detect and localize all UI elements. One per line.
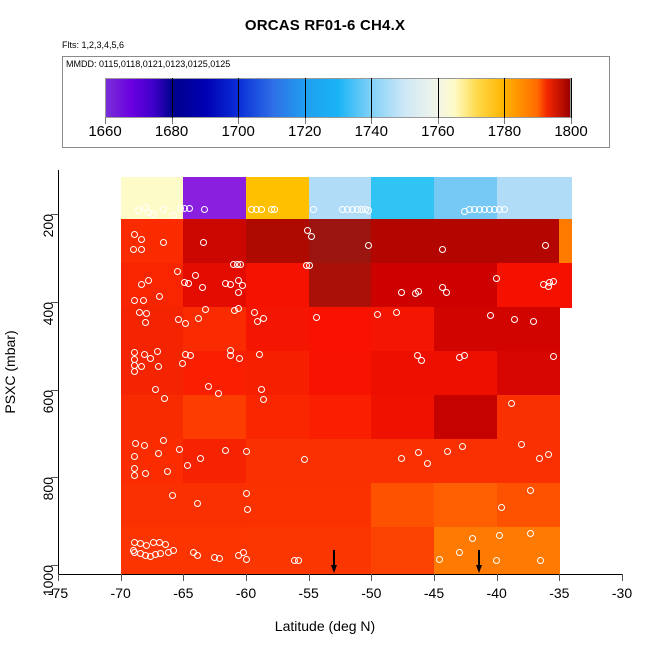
x-axis-tick <box>183 574 184 581</box>
data-point <box>170 547 177 554</box>
heatmap-cell <box>371 177 434 220</box>
data-point <box>310 206 317 213</box>
heatmap-cell <box>309 351 372 396</box>
heatmap-cell <box>121 483 184 528</box>
y-axis-tick-label: 1000 <box>40 565 56 596</box>
colorbar-separator <box>571 78 572 118</box>
data-point <box>160 206 167 213</box>
data-point <box>132 440 139 447</box>
data-point <box>205 383 212 390</box>
data-point <box>185 280 192 287</box>
x-axis-tick <box>622 574 623 581</box>
heatmap-cell <box>121 439 184 484</box>
x-axis-tick-label: -70 <box>111 585 131 601</box>
data-point <box>398 289 405 296</box>
x-axis-tick <box>434 574 435 581</box>
heatmap-cell <box>309 177 372 220</box>
heatmap-cell <box>246 263 309 308</box>
x-axis-tick-label: -60 <box>236 585 256 601</box>
heatmap-cell <box>246 483 372 528</box>
x-axis-tick <box>371 574 372 581</box>
page-title: ORCAS RF01-6 CH4.X <box>0 17 650 34</box>
data-point <box>550 353 557 360</box>
heatmap-plot-area <box>58 170 622 574</box>
data-point <box>243 448 250 455</box>
heatmap-cell <box>246 439 372 484</box>
colorbar-tick-label: 1700 <box>221 123 254 140</box>
data-point <box>194 500 201 507</box>
data-point <box>498 504 505 511</box>
data-point <box>530 318 537 325</box>
mmdd-label: MMDD: 0115,0118,0121,0123,0125,0125 <box>66 59 230 69</box>
data-point <box>536 455 543 462</box>
heatmap-cell <box>434 219 497 264</box>
data-point <box>244 506 251 513</box>
data-point <box>418 357 425 364</box>
data-point <box>251 309 258 316</box>
data-point <box>184 462 191 469</box>
data-point <box>145 277 152 284</box>
heatmap-cell <box>183 219 246 264</box>
data-point <box>216 555 223 562</box>
x-axis-tick-label: -30 <box>612 585 632 601</box>
heatmap-cell <box>183 307 246 352</box>
y-axis-title: PSXC (mbar) <box>2 330 18 413</box>
data-point <box>135 207 142 214</box>
x-axis-tick-label: -65 <box>173 585 193 601</box>
colorbar: 16601680170017201740176017801800 <box>105 78 571 118</box>
heatmap-cell <box>371 527 434 574</box>
data-point <box>239 282 246 289</box>
x-axis-tick <box>559 574 560 581</box>
x-axis-tick-label: -50 <box>361 585 381 601</box>
colorbar-tick-label: 1720 <box>288 123 321 140</box>
heatmap-cell <box>371 351 434 396</box>
heatmap-cell <box>371 395 434 440</box>
heatmap-cells-layer <box>58 170 622 574</box>
heatmap-cell <box>309 263 372 308</box>
y-axis-tick-label: 800 <box>40 477 56 500</box>
heatmap-cell <box>183 483 246 528</box>
arrow-head <box>331 565 337 573</box>
data-point <box>461 352 468 359</box>
data-point <box>308 233 315 240</box>
data-point <box>199 284 206 291</box>
data-point <box>156 293 163 300</box>
data-point <box>235 289 242 296</box>
colorbar-tick-label: 1680 <box>155 123 188 140</box>
profile-marker-arrow <box>476 550 482 574</box>
heatmap-cell <box>309 395 372 440</box>
x-axis-tick <box>497 574 498 581</box>
profile-marker-arrow <box>331 550 337 574</box>
data-point <box>131 465 138 472</box>
x-axis-line <box>58 574 622 575</box>
data-point <box>444 448 451 455</box>
data-point <box>170 212 177 219</box>
heatmap-cell <box>246 219 309 264</box>
data-point <box>374 311 381 318</box>
data-point <box>545 283 552 290</box>
heatmap-cell <box>183 263 246 308</box>
colorbar-separator <box>504 78 505 118</box>
data-point <box>162 541 169 548</box>
colorbar-tick-label: 1800 <box>554 123 587 140</box>
x-axis-tick-label: -45 <box>424 585 444 601</box>
plot-root: ORCAS RF01-6 CH4.X Flts: 1,2,3,4,5,6 MMD… <box>0 0 650 650</box>
heatmap-cell <box>121 307 184 352</box>
data-point <box>194 552 201 559</box>
data-point <box>439 246 446 253</box>
data-point <box>164 468 171 475</box>
x-axis-tick-label: -40 <box>487 585 507 601</box>
data-point <box>130 547 137 554</box>
colorbar-separator <box>172 78 173 118</box>
data-point <box>527 487 534 494</box>
colorbar-separator <box>438 78 439 118</box>
data-point <box>195 315 202 322</box>
colorbar-gradient <box>105 78 571 118</box>
data-point <box>258 386 265 393</box>
data-point <box>542 242 549 249</box>
data-point <box>175 316 182 323</box>
y-axis-tick-label: 600 <box>40 390 56 413</box>
heatmap-cell <box>121 219 184 264</box>
heatmap-cell <box>497 219 560 264</box>
colorbar-tick-label: 1660 <box>88 123 121 140</box>
colorbar-separator <box>371 78 372 118</box>
heatmap-cell <box>497 263 573 308</box>
data-point <box>511 316 518 323</box>
x-axis-tick <box>246 574 247 581</box>
y-axis-line <box>58 170 59 574</box>
heatmap-cell <box>183 439 246 484</box>
data-point <box>243 556 250 563</box>
heatmap-cell <box>434 395 497 440</box>
data-point <box>131 368 138 375</box>
x-axis-tick <box>309 574 310 581</box>
data-point <box>155 363 162 370</box>
data-point <box>136 309 143 316</box>
data-point <box>154 348 161 355</box>
heatmap-cell <box>246 527 372 574</box>
data-point <box>501 206 508 213</box>
data-point <box>243 490 250 497</box>
heatmap-cell <box>371 219 434 264</box>
heatmap-cell <box>246 351 309 396</box>
heatmap-cell <box>559 219 572 264</box>
data-point <box>150 211 157 218</box>
heatmap-cell <box>434 483 497 528</box>
data-point <box>260 396 267 403</box>
x-axis-title: Latitude (deg N) <box>0 618 650 634</box>
flights-label: Flts: 1,2,3,4,5,6 <box>62 40 124 50</box>
heatmap-cell <box>497 395 560 440</box>
data-point <box>176 446 183 453</box>
data-point <box>456 549 463 556</box>
data-point <box>258 206 265 213</box>
heatmap-cell <box>246 395 309 440</box>
colorbar-tick-label: 1760 <box>421 123 454 140</box>
data-point <box>260 315 267 322</box>
heatmap-cell <box>246 177 309 220</box>
x-axis-tick <box>121 574 122 581</box>
data-point <box>436 556 443 563</box>
heatmap-cell <box>371 263 434 308</box>
data-point <box>215 390 222 397</box>
y-axis-tick-label: 400 <box>40 302 56 325</box>
data-point <box>393 309 400 316</box>
x-axis-tick <box>58 574 59 581</box>
data-point <box>313 314 320 321</box>
heatmap-cell <box>371 483 434 528</box>
colorbar-separator <box>238 78 239 118</box>
colorbar-tick-label: 1740 <box>355 123 388 140</box>
colorbar-tick-label: 1780 <box>488 123 521 140</box>
arrow-head <box>476 565 482 573</box>
data-point <box>518 441 525 448</box>
heatmap-cell <box>183 395 246 440</box>
data-point <box>131 453 138 460</box>
x-axis-tick-label: -55 <box>299 585 319 601</box>
data-point <box>160 437 167 444</box>
heatmap-cell <box>434 307 560 352</box>
data-point <box>545 451 552 458</box>
y-axis-tick-label: 200 <box>40 214 56 237</box>
heatmap-cell <box>121 395 184 440</box>
data-point <box>424 460 431 467</box>
colorbar-separator <box>305 78 306 118</box>
data-point <box>169 492 176 499</box>
data-point <box>155 450 162 457</box>
data-point <box>174 268 181 275</box>
data-point <box>179 360 186 367</box>
heatmap-cell <box>183 177 246 220</box>
heatmap-cell <box>309 219 372 264</box>
heatmap-cell <box>497 177 573 220</box>
data-point <box>496 532 503 539</box>
data-point <box>161 395 168 402</box>
x-axis-tick-label: -35 <box>549 585 569 601</box>
